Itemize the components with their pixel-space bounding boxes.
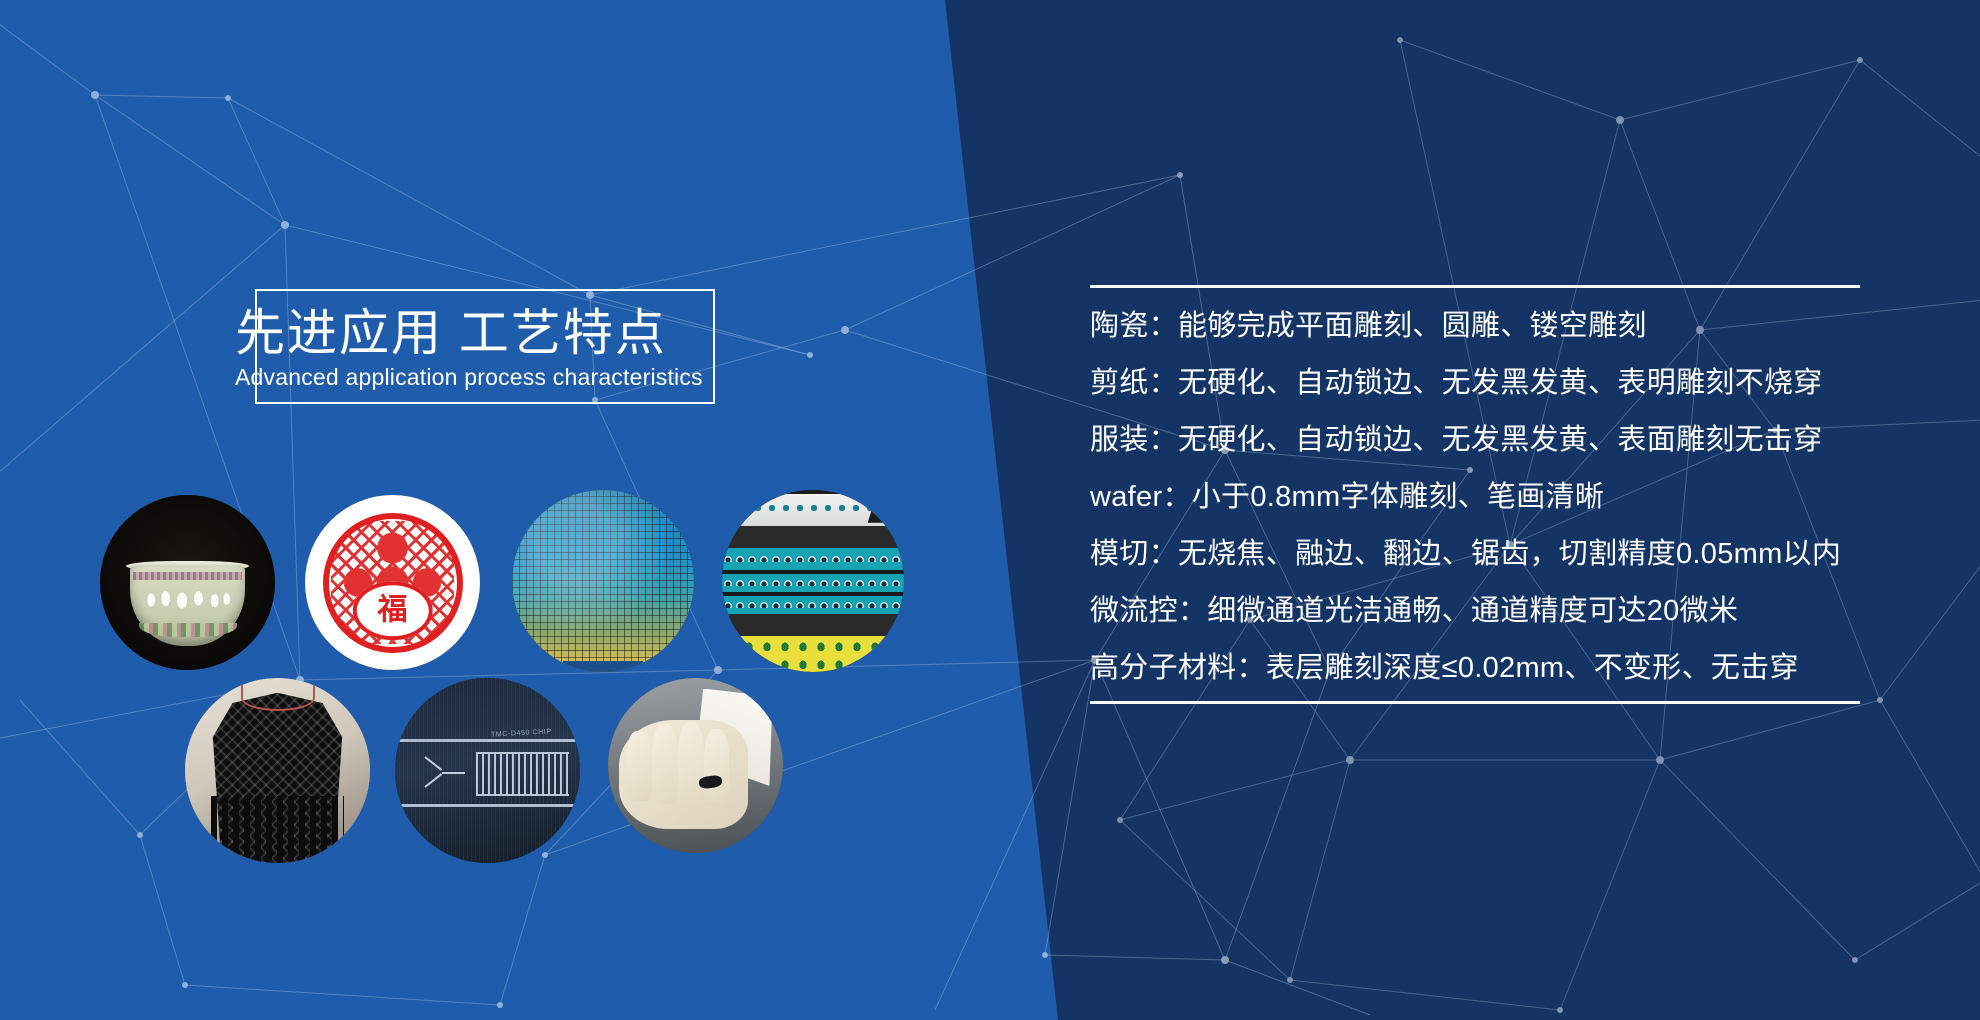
gallery-item-gloved-hand-polymer[interactable]: [608, 678, 783, 853]
microfluidic-chip-photo: TMC-D450 CHIP: [395, 678, 580, 863]
specification-list: 陶瓷：能够完成平面雕刻、圆雕、镂空雕刻 剪纸：无硬化、自动锁边、无发黑发黄、表明…: [1090, 288, 1920, 701]
divider-bottom: [1090, 701, 1860, 704]
gallery-item-black-textile-fringe[interactable]: [185, 678, 370, 863]
die-cut-film-photo: [722, 490, 904, 672]
gallery-item-ceramic-bowl[interactable]: [100, 495, 275, 670]
spec-line-diecut: 模切：无烧焦、融边、翻边、锯齿，切割精度0.05mm以内: [1090, 526, 1920, 583]
spec-line-polymer: 高分子材料：表层雕刻深度≤0.02mm、不变形、无击穿: [1090, 640, 1920, 697]
spec-line-papercut: 剪纸：无硬化、自动锁边、无发黑发黄、表明雕刻不烧穿: [1090, 355, 1920, 412]
gallery-item-die-cut-film-bands[interactable]: [722, 490, 904, 672]
silicon-wafer-photo: [512, 490, 694, 672]
spec-line-apparel: 服装：无硬化、自动锁边、无发黑发黄、表面雕刻无击穿: [1090, 412, 1920, 469]
specification-panel: 陶瓷：能够完成平面雕刻、圆雕、镂空雕刻 剪纸：无硬化、自动锁边、无发黑发黄、表明…: [1090, 285, 1920, 704]
gallery-item-silicon-wafer[interactable]: [512, 490, 694, 672]
spec-line-ceramic: 陶瓷：能够完成平面雕刻、圆雕、镂空雕刻: [1090, 298, 1920, 355]
fu-character: 福: [352, 581, 433, 641]
spec-line-wafer: wafer：小于0.8mm字体雕刻、笔画清晰: [1090, 469, 1920, 526]
red-papercut-fu-photo: 福: [305, 495, 480, 670]
textile-fringe-photo: [185, 678, 370, 863]
spec-line-microfluidic: 微流控：细微通道光洁通畅、通道精度可达20微米: [1090, 583, 1920, 640]
gallery-item-microfluidic-chip[interactable]: TMC-D450 CHIP: [395, 678, 580, 863]
gallery-item-red-papercut-fu[interactable]: 福: [305, 495, 480, 670]
sample-gallery: 福: [0, 0, 1000, 1020]
ceramic-bowl-photo: [100, 495, 275, 670]
gloved-hand-photo: [608, 678, 783, 853]
slide-canvas: 先进应用 工艺特点 Advanced application process c…: [0, 0, 1980, 1020]
